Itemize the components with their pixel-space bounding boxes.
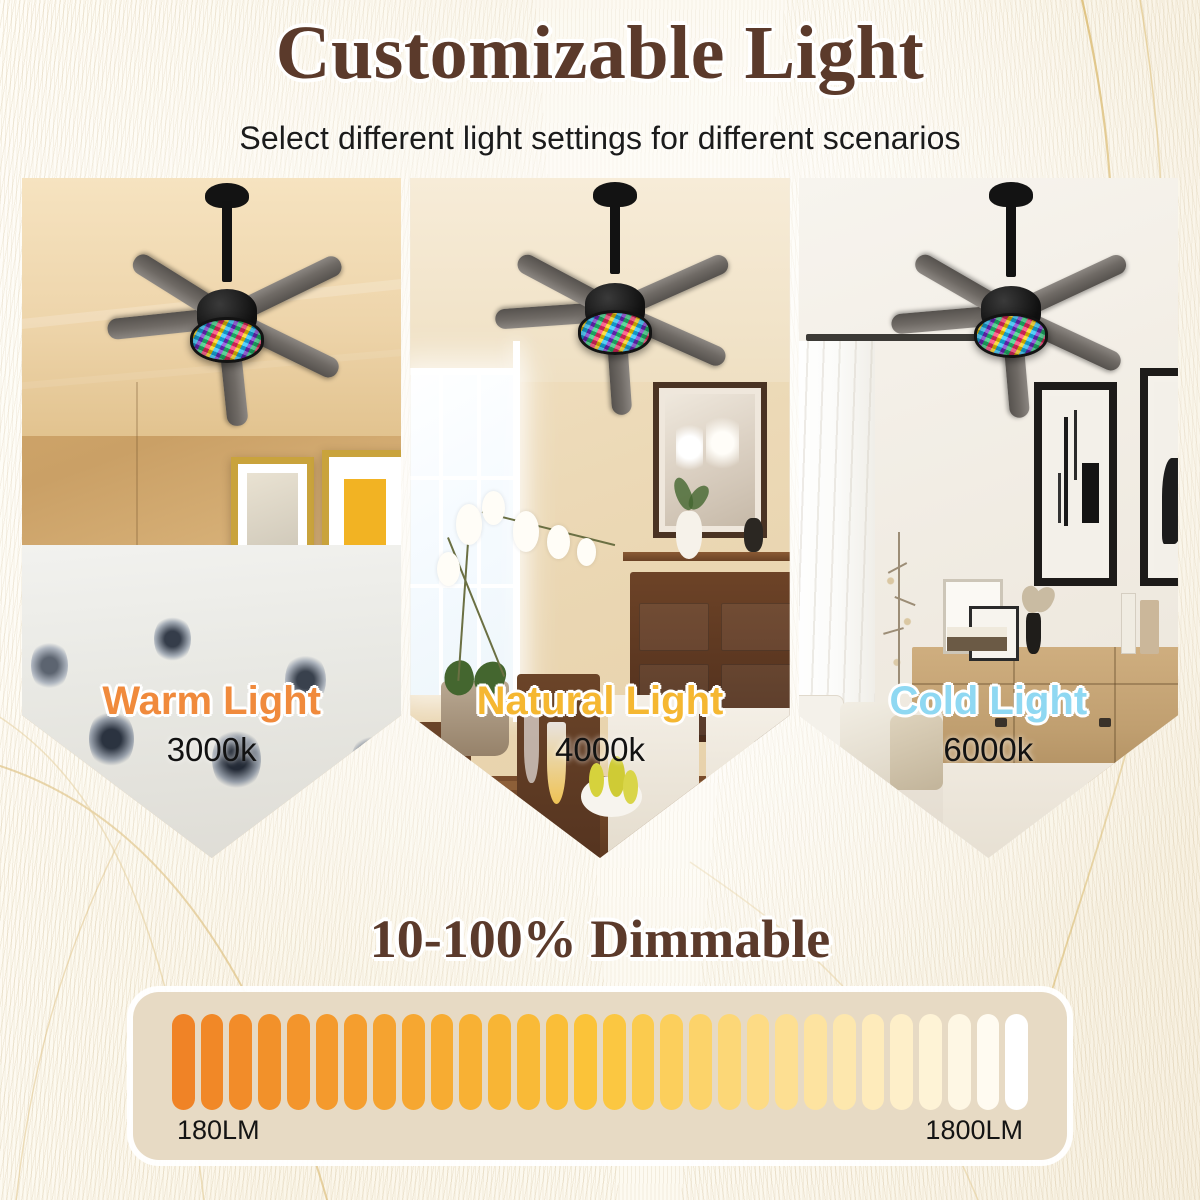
fan-downrod xyxy=(610,200,620,274)
panel-natural-light[interactable]: Natural Light 4000k xyxy=(410,178,789,858)
framed-art xyxy=(1034,382,1117,586)
dimmable-title: 10-100% Dimmable xyxy=(0,908,1200,970)
duvet-pattern xyxy=(31,639,68,692)
fan-downrod xyxy=(222,201,232,282)
dimmable-bar[interactable] xyxy=(804,1014,827,1110)
page-subtitle: Select different light settings for diff… xyxy=(0,120,1200,157)
light-mode-gallery: Warm Light 3000k xyxy=(22,178,1178,858)
sideboard-top xyxy=(623,552,790,561)
dimmable-bar[interactable] xyxy=(344,1014,367,1110)
dimmable-bar[interactable] xyxy=(890,1014,913,1110)
dimmable-bar[interactable] xyxy=(833,1014,856,1110)
orchid-bloom xyxy=(547,525,570,559)
dimmable-bar[interactable] xyxy=(517,1014,540,1110)
dimmable-bar[interactable] xyxy=(632,1014,655,1110)
throw-pillow xyxy=(890,715,943,790)
duvet-pattern xyxy=(351,733,396,792)
dimmable-bar[interactable] xyxy=(229,1014,252,1110)
panel-warm-light[interactable]: Warm Light 3000k xyxy=(22,178,401,858)
bed-duvet xyxy=(22,545,401,858)
decor-object xyxy=(744,518,763,552)
wine-glass xyxy=(547,722,566,804)
dimmable-bar-track[interactable] xyxy=(169,1014,1031,1110)
dimmable-bar[interactable] xyxy=(287,1014,310,1110)
fan-downrod xyxy=(1006,200,1016,276)
orchid-bloom xyxy=(482,491,505,525)
framed-art xyxy=(653,382,767,538)
fruit xyxy=(589,763,604,797)
dimmable-bar[interactable] xyxy=(977,1014,1000,1110)
canister xyxy=(1140,600,1159,654)
duvet-pattern xyxy=(22,770,48,817)
dimmable-bar[interactable] xyxy=(373,1014,396,1110)
ceiling-fan xyxy=(875,178,1148,402)
dimmable-bar[interactable] xyxy=(948,1014,971,1110)
duvet-pattern xyxy=(212,727,261,793)
stacked-books xyxy=(947,637,1008,651)
dimmable-bar[interactable] xyxy=(258,1014,281,1110)
wine-glass xyxy=(524,708,539,783)
dimmable-bar[interactable] xyxy=(603,1014,626,1110)
fruit xyxy=(418,763,437,804)
dimmable-bar[interactable] xyxy=(488,1014,511,1110)
decorative-twig-tree xyxy=(878,532,920,695)
dimmable-scale-card: 180LM 1800LM xyxy=(133,992,1067,1160)
throw-pillow xyxy=(799,695,845,783)
dimmable-bar[interactable] xyxy=(201,1014,224,1110)
cabinet-handle xyxy=(995,718,1007,728)
fruit xyxy=(608,756,625,797)
dining-chair-upholstered xyxy=(706,708,789,858)
dimmable-bar[interactable] xyxy=(718,1014,741,1110)
book-upright xyxy=(1121,593,1136,654)
dimmable-min-label: 180LM xyxy=(177,1115,260,1146)
dimmable-bar[interactable] xyxy=(546,1014,569,1110)
dimmable-bar[interactable] xyxy=(316,1014,339,1110)
orchid-bloom xyxy=(437,552,460,586)
dimmable-bar[interactable] xyxy=(431,1014,454,1110)
dimmable-bar[interactable] xyxy=(402,1014,425,1110)
dimmable-bar[interactable] xyxy=(689,1014,712,1110)
vase xyxy=(676,511,703,559)
dimmable-bar[interactable] xyxy=(1005,1014,1028,1110)
dimmable-bar[interactable] xyxy=(574,1014,597,1110)
dimmable-bar[interactable] xyxy=(172,1014,195,1110)
dimmable-bar[interactable] xyxy=(775,1014,798,1110)
ceiling-fan xyxy=(479,178,752,402)
fan-light-glass xyxy=(578,310,652,355)
dimmable-bar[interactable] xyxy=(660,1014,683,1110)
dimmable-bar[interactable] xyxy=(459,1014,482,1110)
cabinet-handle xyxy=(1099,718,1111,728)
panel-cold-light[interactable]: Cold Light 6000k xyxy=(799,178,1178,858)
duvet-pattern xyxy=(285,652,326,708)
dark-furniture-edge xyxy=(1072,804,1178,858)
dimmable-max-label: 1800LM xyxy=(925,1115,1023,1146)
dimmable-bar[interactable] xyxy=(747,1014,770,1110)
vase-dark xyxy=(1026,613,1041,654)
art-canvas xyxy=(665,394,755,526)
page-title: Customizable Light xyxy=(0,14,1200,94)
ceiling-fan xyxy=(90,178,363,409)
promo-banner: Customizable Light Select different ligh… xyxy=(0,0,1200,1200)
orchid-bloom xyxy=(513,511,540,552)
floor xyxy=(799,763,1178,858)
fan-light-glass xyxy=(974,313,1048,358)
fan-light-glass xyxy=(190,317,264,363)
dimmable-bar[interactable] xyxy=(919,1014,942,1110)
fruit xyxy=(623,770,638,804)
dimmable-bar[interactable] xyxy=(862,1014,885,1110)
duvet-pattern xyxy=(154,614,191,664)
orchid-bloom xyxy=(577,538,596,565)
duvet-pattern xyxy=(89,708,134,771)
